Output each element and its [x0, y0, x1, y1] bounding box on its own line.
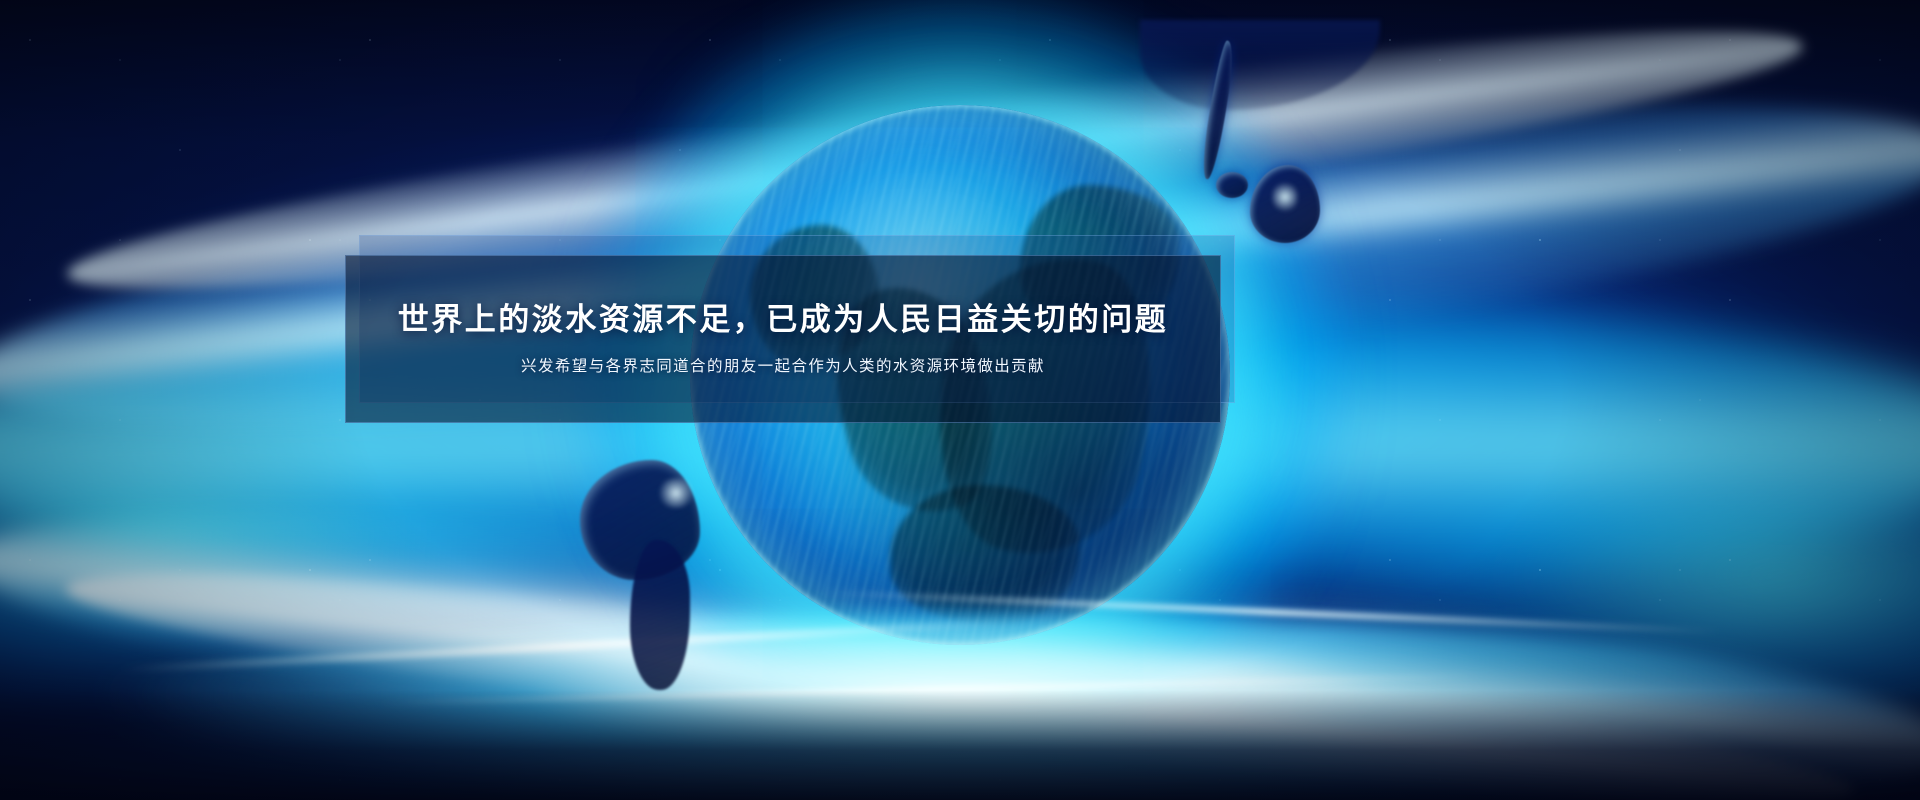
droplet-ridge: [1140, 20, 1380, 110]
splash-blob: [630, 540, 690, 690]
splash-droplet-cluster: [560, 460, 820, 690]
water-trough-shadow: [0, 690, 1920, 800]
banner-panel: 世界上的淡水资源不足，已成为人民日益关切的问题 兴发希望与各界志同道合的朋友一起…: [345, 235, 1235, 425]
droplet-highlight: [1272, 180, 1298, 214]
hero-banner-stage: 世界上的淡水资源不足，已成为人民日益关切的问题 兴发希望与各界志同道合的朋友一起…: [0, 0, 1920, 800]
splash-highlight: [656, 478, 696, 508]
banner-panel-content: 世界上的淡水资源不足，已成为人民日益关切的问题 兴发希望与各界志同道合的朋友一起…: [345, 255, 1221, 423]
droplet-bead: [1216, 172, 1248, 198]
water-splash: [0, 440, 1920, 800]
banner-headline: 世界上的淡水资源不足，已成为人民日益关切的问题: [398, 303, 1169, 337]
banner-subline: 兴发希望与各界志同道合的朋友一起合作为人类的水资源环境做出贡献: [521, 358, 1045, 375]
